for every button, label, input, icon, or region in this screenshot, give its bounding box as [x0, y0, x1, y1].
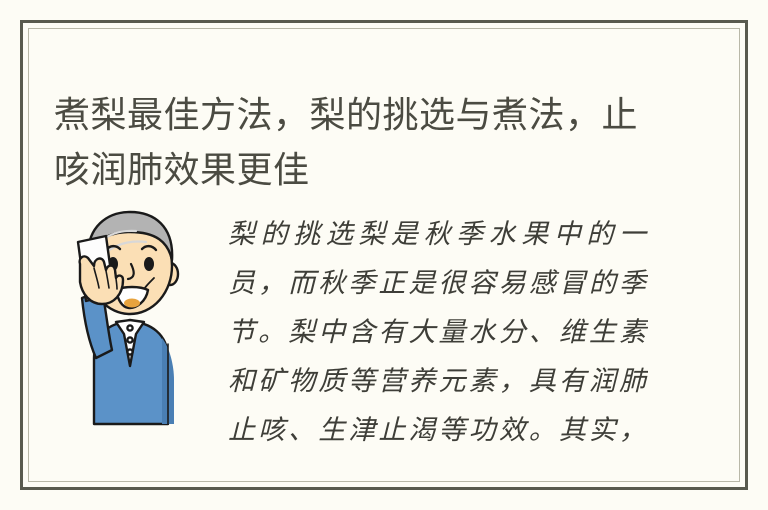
page-title: 煮梨最佳方法，梨的挑选与煮法，止咳润肺效果更佳 [54, 87, 674, 197]
article-body-text: 梨的挑选梨是秋季水果中的一员，而秋季正是很容易感冒的季节。梨中含有大量水分、维生… [228, 210, 648, 460]
article-page: 煮梨最佳方法，梨的挑选与煮法，止咳润肺效果更佳 [0, 0, 768, 510]
elderly-man-holding-phone-icon [50, 198, 210, 428]
article-illustration [50, 198, 210, 428]
article-content: 煮梨最佳方法，梨的挑选与煮法，止咳润肺效果更佳 [28, 28, 740, 482]
